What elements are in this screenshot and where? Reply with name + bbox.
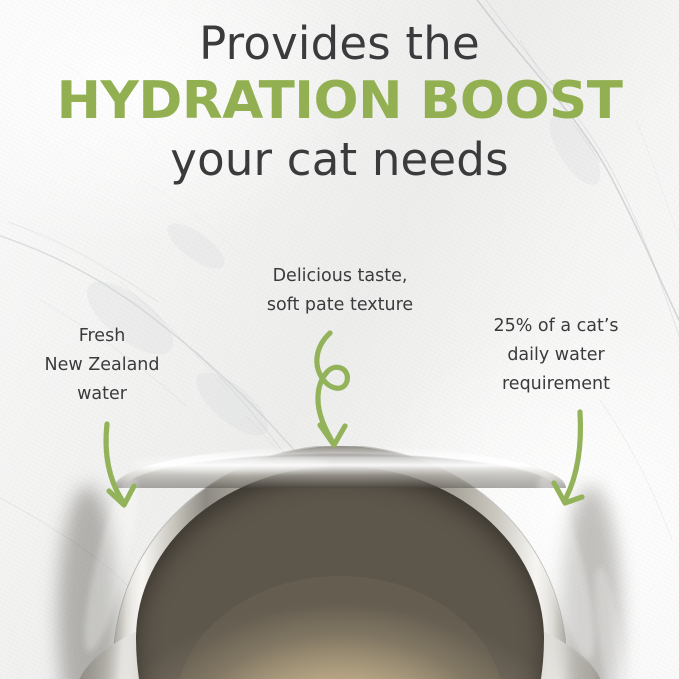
- promotional-graphic: Provides the HYDRATION BOOST your cat ne…: [0, 0, 679, 679]
- callout-mid-line-2: soft pate texture: [240, 291, 440, 320]
- cat-bowl-photo: [0, 446, 679, 679]
- callout-daily-water-requirement: 25% of a cat’s daily water requirement: [466, 312, 646, 399]
- callout-right-line-2: daily water: [466, 341, 646, 370]
- callout-delicious-taste: Delicious taste, soft pate texture: [240, 262, 440, 320]
- headline-block: Provides the HYDRATION BOOST your cat ne…: [0, 18, 679, 186]
- headline-line-1: Provides the: [0, 18, 679, 70]
- bowl-specular-top: [130, 456, 330, 472]
- callout-left-line-1: Fresh: [22, 322, 182, 351]
- callout-right-line-3: requirement: [466, 370, 646, 399]
- callout-left-line-3: water: [22, 380, 182, 409]
- callout-mid-line-1: Delicious taste,: [240, 262, 440, 291]
- headline-line-2-accent: HYDRATION BOOST: [0, 70, 679, 132]
- headline-line-3: your cat needs: [0, 134, 679, 186]
- callout-left-line-2: New Zealand: [22, 351, 182, 380]
- callout-fresh-new-zealand-water: Fresh New Zealand water: [22, 322, 182, 409]
- callout-right-line-1: 25% of a cat’s: [466, 312, 646, 341]
